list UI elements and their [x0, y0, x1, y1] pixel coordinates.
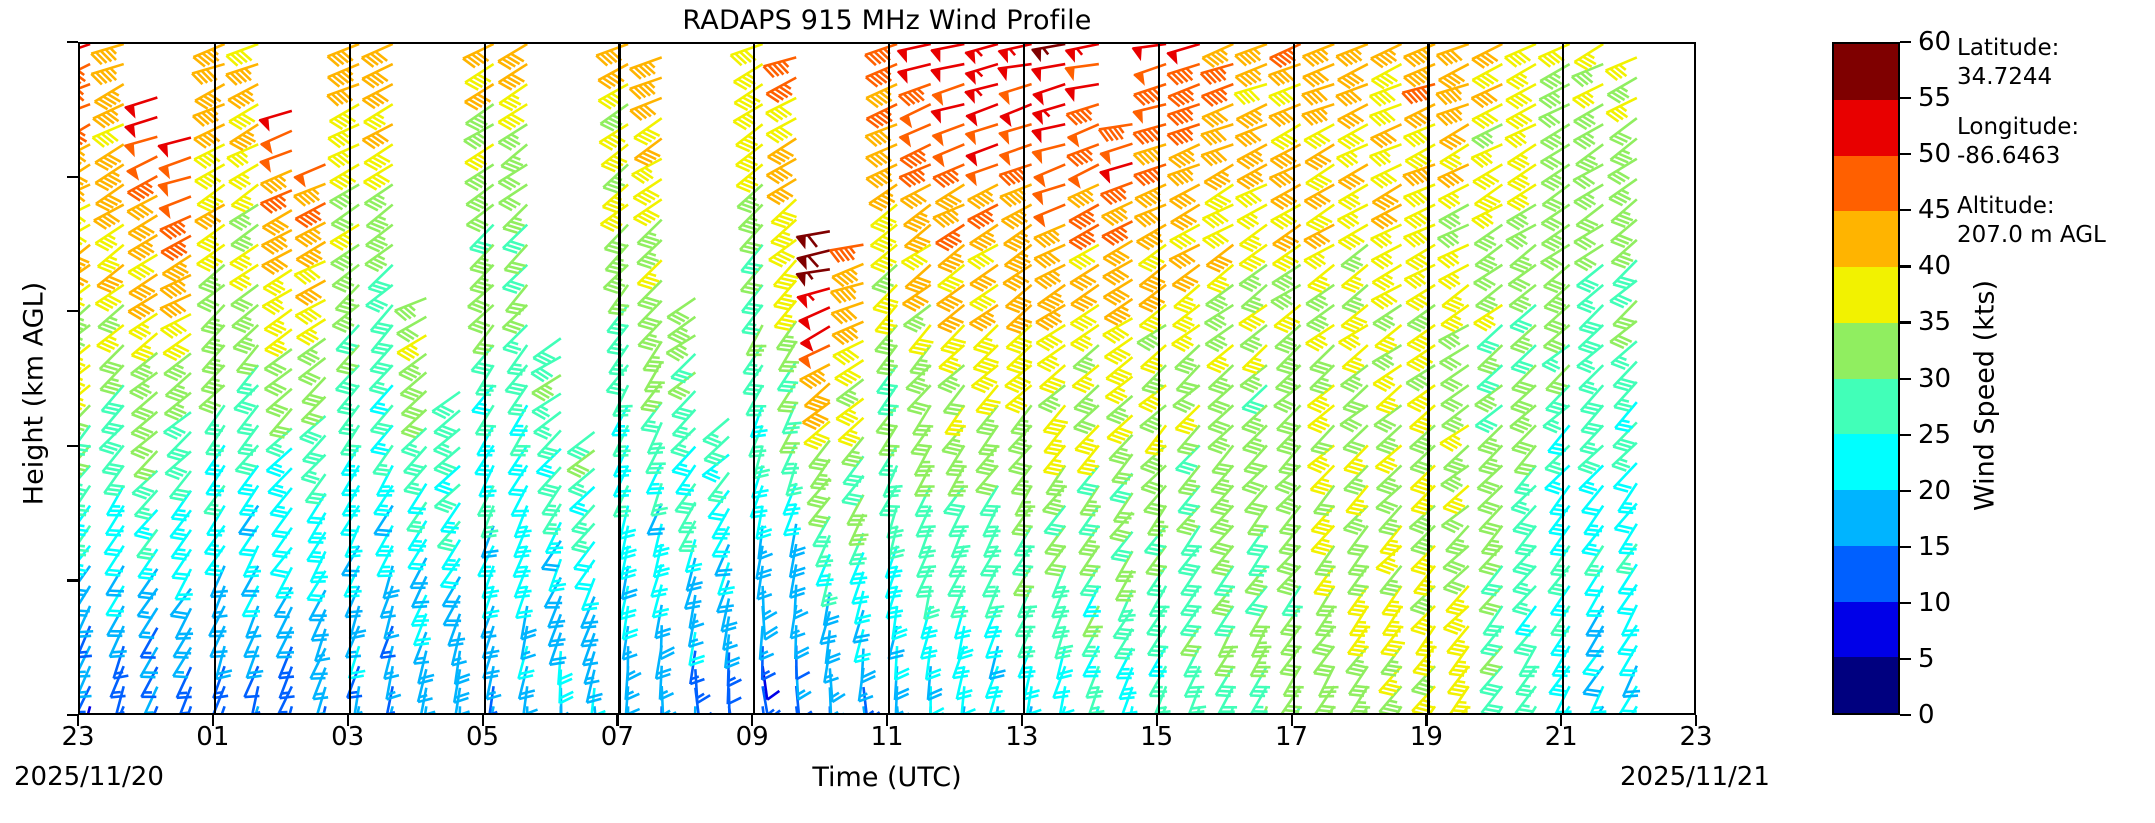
- wind-barb: [1135, 205, 1167, 227]
- hour-separator-line: [349, 44, 351, 713]
- wind-barb: [1404, 124, 1435, 146]
- wind-barb: [767, 159, 797, 184]
- wind-barb: [1336, 84, 1368, 106]
- wind-barb: [160, 295, 191, 318]
- wind-barb: [125, 137, 158, 156]
- wind-barb: [723, 616, 737, 649]
- wind-barb: [1036, 305, 1065, 330]
- wind-barb: [1403, 164, 1435, 185]
- wind-barb: [1370, 144, 1402, 166]
- colorbar-tick-label: 35: [1918, 307, 1951, 337]
- wind-barb: [1134, 164, 1166, 185]
- colorbar-tick-label: 45: [1918, 195, 1951, 225]
- wind-barb: [294, 164, 325, 186]
- x-tick-label: 03: [303, 722, 393, 752]
- colorbar-tick-mark: [1900, 546, 1911, 548]
- wind-barb: [194, 144, 224, 168]
- wind-barb: [630, 98, 662, 120]
- x-tick-label: 19: [1381, 722, 1471, 752]
- wind-barb: [259, 111, 292, 130]
- wind-barb: [1302, 104, 1334, 125]
- colorbar-gradient: [1832, 42, 1900, 715]
- wind-barb: [1440, 425, 1469, 450]
- wind-barb: [1575, 245, 1604, 271]
- wind-barb: [1406, 285, 1435, 310]
- wind-barb: [1304, 225, 1334, 249]
- wind-barb: [731, 44, 763, 65]
- wind-barb: [718, 562, 734, 594]
- wind-barb: [1169, 144, 1200, 167]
- x-tick-label: 05: [438, 722, 528, 752]
- wind-barb: [1033, 184, 1065, 204]
- hour-separator-line: [1023, 44, 1025, 713]
- wind-barb: [1574, 124, 1604, 149]
- wind-barb: [1472, 124, 1502, 148]
- wind-barb: [966, 164, 998, 185]
- longitude-block: Longitude: -86.6463: [1957, 113, 2155, 171]
- wind-barb: [1440, 345, 1469, 370]
- wind-barb: [931, 64, 964, 81]
- colorbar-band: [1834, 44, 1898, 100]
- y-axis-label: Height (km AGL): [19, 54, 50, 734]
- y-tick-mark: [67, 579, 78, 581]
- colorbar: 051015202530354045505560: [1832, 42, 1900, 715]
- hour-separator-line: [753, 44, 755, 713]
- wind-barb: [229, 164, 258, 189]
- wind-barb: [1304, 245, 1334, 269]
- wind-barb: [96, 285, 124, 311]
- wind-barb: [160, 275, 191, 298]
- wind-barb: [1069, 225, 1098, 250]
- wind-barb: [1270, 144, 1300, 168]
- colorbar-band: [1834, 379, 1898, 435]
- colorbar-tick-mark: [1900, 97, 1911, 99]
- wind-barb: [192, 64, 225, 84]
- hour-separator-line: [888, 44, 890, 713]
- wind-barb: [816, 535, 833, 566]
- wind-barb: [1032, 64, 1065, 81]
- x-tick-label: 13: [977, 722, 1067, 752]
- wind-barb: [1473, 164, 1502, 189]
- wind-barb: [733, 104, 762, 129]
- wind-barb: [901, 184, 931, 208]
- wind-barb: [662, 686, 676, 713]
- wind-barb: [1371, 225, 1402, 248]
- wind-barb: [1472, 64, 1502, 88]
- colorbar-tick-mark: [1900, 714, 1911, 716]
- wind-barb: [936, 225, 965, 251]
- wind-barb: [1201, 64, 1234, 84]
- x-axis-label: Time (UTC): [78, 762, 1696, 793]
- wind-barb: [849, 514, 868, 545]
- wind-barb: [1436, 84, 1468, 104]
- wind-barb: [1237, 144, 1267, 168]
- wind-barb: [596, 44, 628, 66]
- wind-barb: [80, 84, 90, 106]
- wind-barb: [796, 231, 829, 248]
- wind-barb: [1303, 64, 1334, 86]
- wind-barb: [533, 338, 561, 364]
- wind-barb: [1437, 44, 1469, 65]
- wind-barb: [970, 305, 998, 331]
- wind-barb: [931, 44, 964, 61]
- wind-barb: [796, 269, 830, 285]
- wind-barb: [80, 104, 90, 125]
- wind-barb: [634, 199, 662, 225]
- wind-barb: [1102, 221, 1132, 245]
- wind-barb: [933, 124, 965, 145]
- wind-barb: [364, 164, 393, 189]
- wind-barb: [1506, 225, 1536, 249]
- hour-separator-line: [1427, 44, 1429, 713]
- wind-barb: [1574, 225, 1603, 250]
- wind-barb: [441, 558, 460, 588]
- wind-barb: [1167, 64, 1199, 85]
- wind-barb: [1373, 365, 1401, 391]
- wind-barb: [161, 236, 191, 260]
- wind-barb: [1271, 285, 1301, 310]
- hour-separator-line: [618, 44, 620, 713]
- wind-barb: [1068, 184, 1099, 207]
- wind-barb: [95, 225, 123, 251]
- wind-barb: [1035, 265, 1065, 289]
- wind-barb: [1439, 184, 1469, 208]
- hour-separator-line: [214, 44, 216, 713]
- colorbar-tick-label: 15: [1918, 532, 1951, 562]
- wind-barb: [966, 124, 998, 144]
- wind-barb: [1472, 44, 1502, 68]
- wind-barb: [1306, 325, 1334, 351]
- wind-barb: [1034, 245, 1065, 268]
- wind-barb: [316, 687, 331, 713]
- wind-barb: [295, 300, 325, 324]
- colorbar-tick-mark: [1900, 658, 1911, 660]
- wind-barb: [717, 580, 734, 612]
- wind-barb: [632, 159, 662, 183]
- wind-barb: [1271, 184, 1301, 209]
- wind-barb: [1608, 159, 1637, 184]
- wind-barb: [900, 124, 931, 146]
- wind-barb: [1404, 44, 1435, 66]
- colorbar-tick-label: 50: [1918, 139, 1951, 169]
- wind-barb: [800, 364, 830, 388]
- wind-barb: [1505, 44, 1536, 67]
- wind-barb: [999, 124, 1032, 143]
- wind-barb: [1404, 225, 1435, 247]
- wind-barb: [1032, 44, 1065, 61]
- x-tick-label: 07: [572, 722, 662, 752]
- wind-barb: [581, 597, 598, 628]
- x-tick-label: 11: [842, 722, 932, 752]
- colorbar-tick-label: 5: [1918, 644, 1935, 674]
- wind-barb: [1132, 44, 1166, 60]
- wind-barb: [1573, 84, 1603, 108]
- colorbar-tick-mark: [1900, 209, 1911, 211]
- wind-barb: [1168, 84, 1199, 106]
- colorbar-tick-mark: [1900, 434, 1911, 436]
- colorbar-tick-mark: [1900, 153, 1911, 155]
- wind-barb: [463, 44, 494, 67]
- wind-barb: [1371, 285, 1401, 309]
- wind-barb: [899, 84, 931, 105]
- wind-barb: [902, 245, 931, 270]
- wind-barb: [686, 539, 702, 571]
- wind-barb: [194, 124, 225, 147]
- wind-barb: [261, 131, 292, 153]
- hour-separator-line: [1562, 44, 1564, 713]
- wind-barb: [1439, 325, 1469, 349]
- wind-barb: [865, 124, 897, 146]
- wind-barb: [1168, 104, 1200, 125]
- wind-barb: [1337, 144, 1368, 167]
- wind-barb: [729, 706, 746, 713]
- wind-barb: [965, 44, 998, 63]
- wind-barb: [695, 669, 710, 703]
- wind-barb: [1474, 305, 1502, 331]
- wind-barb: [764, 57, 797, 77]
- wind-barb: [766, 118, 796, 142]
- wind-barb-field: [80, 44, 1694, 713]
- wind-barb: [966, 104, 998, 125]
- colorbar-tick-mark: [1900, 41, 1911, 43]
- wind-barb: [822, 573, 838, 606]
- wind-barb: [866, 164, 897, 187]
- wind-barb: [999, 44, 1032, 62]
- wind-barb: [598, 84, 628, 109]
- wind-barb: [362, 44, 393, 67]
- wind-barb: [262, 290, 291, 315]
- wind-barb: [1034, 164, 1065, 186]
- wind-barb: [1033, 84, 1065, 104]
- wind-barb: [1203, 205, 1234, 228]
- wind-barb: [933, 144, 964, 166]
- wind-barb: [1202, 84, 1234, 106]
- wind-barb: [1270, 44, 1301, 67]
- y-tick-mark: [67, 445, 78, 447]
- x-tick-label: 15: [1112, 722, 1202, 752]
- colorbar-tick-label: 55: [1918, 83, 1951, 113]
- wind-barb: [93, 104, 124, 127]
- wind-barb: [1137, 225, 1166, 250]
- wind-barb: [799, 345, 830, 368]
- wind-barb: [933, 164, 964, 187]
- colorbar-band: [1834, 434, 1898, 490]
- colorbar-tick-mark: [1900, 265, 1911, 267]
- wind-barb: [1269, 64, 1301, 85]
- date-label-end: 2025/11/21: [1620, 762, 1770, 792]
- wind-barb: [1168, 164, 1200, 185]
- colorbar-tick-label: 10: [1918, 588, 1951, 618]
- wind-barb: [900, 104, 930, 127]
- wind-barb: [307, 532, 325, 562]
- longitude-label: Longitude:: [1957, 113, 2155, 142]
- wind-barb: [1237, 104, 1267, 128]
- longitude-value: -86.6463: [1957, 142, 2155, 171]
- wind-barb: [1371, 164, 1402, 187]
- colorbar-tick-mark: [1900, 490, 1911, 492]
- wind-barb: [830, 245, 863, 262]
- wind-barb: [1472, 205, 1502, 229]
- wind-barb: [1067, 144, 1099, 166]
- y-tick-mark: [67, 41, 78, 43]
- wind-barb: [261, 170, 292, 193]
- wind-barb: [395, 298, 427, 320]
- wind-barb: [932, 84, 964, 105]
- wind-barb: [330, 184, 359, 209]
- wind-barb: [328, 124, 359, 147]
- wind-barb: [1100, 163, 1133, 182]
- wind-barb: [1002, 205, 1032, 229]
- wind-barb: [1372, 345, 1401, 370]
- wind-barb: [195, 164, 225, 189]
- wind-barb: [171, 589, 191, 618]
- wind-barb: [363, 124, 393, 148]
- colorbar-band: [1834, 546, 1898, 602]
- wind-barb: [766, 78, 796, 102]
- wind-barb: [1402, 84, 1435, 104]
- wind-barb: [1472, 104, 1502, 128]
- colorbar-tick-label: 25: [1918, 420, 1951, 450]
- wind-barb: [830, 668, 845, 702]
- wind-barb: [1439, 265, 1469, 289]
- wind-barb: [1539, 104, 1570, 127]
- wind-barb: [1371, 124, 1402, 147]
- station-metadata: Latitude: 34.7244 Longitude: -86.6463 Al…: [1957, 34, 2155, 271]
- wind-barb: [226, 44, 258, 66]
- wind-barb: [418, 651, 434, 684]
- wind-barb: [1271, 205, 1301, 229]
- wind-barb: [766, 98, 796, 122]
- wind-barb: [805, 383, 830, 411]
- colorbar-band: [1834, 211, 1898, 267]
- wind-barb: [582, 578, 599, 610]
- wind-barb: [1069, 164, 1099, 187]
- wind-barb: [1302, 84, 1334, 105]
- wind-barb: [489, 686, 503, 713]
- colorbar-tick-label: 40: [1918, 251, 1951, 281]
- wind-barb: [998, 64, 1032, 80]
- wind-barb: [307, 571, 325, 601]
- x-tick-label: 23: [1651, 722, 1741, 752]
- plot-area: [78, 42, 1696, 715]
- wind-barb: [799, 307, 830, 329]
- hour-separator-line: [1293, 44, 1295, 713]
- wind-barb: [523, 686, 538, 713]
- wind-barb: [966, 64, 998, 84]
- wind-barb: [599, 124, 628, 149]
- y-tick-mark: [67, 176, 78, 178]
- wind-barb: [312, 610, 329, 641]
- wind-barb: [1188, 686, 1206, 713]
- wind-barb: [1305, 184, 1335, 208]
- wind-barb: [193, 44, 224, 67]
- wind-barb: [968, 245, 998, 269]
- colorbar-band: [1834, 490, 1898, 546]
- wind-barb: [499, 184, 527, 210]
- wind-profile-figure: RADAPS 915 MHz Wind Profile Height (km A…: [0, 0, 2155, 823]
- wind-barb: [1114, 609, 1134, 639]
- wind-barb: [464, 124, 494, 148]
- wind-barb: [1270, 164, 1301, 187]
- wind-barb: [1404, 64, 1435, 87]
- wind-barb: [1059, 686, 1074, 713]
- wind-barb: [195, 205, 225, 230]
- wind-barb: [1438, 164, 1469, 187]
- latitude-value: 34.7244: [1957, 63, 2155, 92]
- wind-barb: [158, 177, 191, 196]
- wind-barb: [91, 64, 123, 84]
- wind-barb: [1003, 265, 1031, 291]
- wind-barb: [1235, 44, 1267, 66]
- wind-barb: [1541, 245, 1570, 270]
- wind-barb: [630, 78, 662, 99]
- wind-barb: [796, 666, 811, 700]
- wind-barb: [209, 606, 226, 636]
- wind-barb: [1069, 245, 1099, 270]
- wind-barb: [762, 646, 775, 680]
- wind-barb: [1572, 64, 1603, 86]
- wind-barb: [363, 84, 393, 108]
- wind-barb: [1066, 44, 1099, 61]
- wind-barb: [262, 250, 292, 274]
- wind-barb: [1404, 184, 1435, 206]
- colorbar-tick-label: 0: [1918, 700, 1935, 730]
- colorbar-tick-label: 30: [1918, 364, 1951, 394]
- wind-barb: [1100, 144, 1132, 164]
- wind-barb: [1404, 265, 1435, 288]
- colorbar-tick-mark: [1900, 321, 1911, 323]
- wind-barb: [722, 598, 737, 631]
- wind-barb: [866, 84, 897, 107]
- wind-barb: [1336, 44, 1368, 66]
- wind-barb: [866, 104, 897, 127]
- wind-barb: [1172, 325, 1200, 351]
- wind-barb: [1234, 84, 1267, 104]
- wind-barb: [1505, 124, 1536, 147]
- wind-barb: [933, 205, 964, 228]
- wind-barb: [1000, 144, 1032, 164]
- wind-barb: [832, 322, 863, 345]
- date-label-start: 2025/11/20: [14, 762, 164, 792]
- colorbar-band: [1834, 100, 1898, 156]
- wind-barb: [767, 179, 796, 204]
- wind-barb: [831, 283, 864, 303]
- wind-barb: [598, 64, 628, 88]
- wind-barb: [898, 64, 931, 82]
- wind-barb: [328, 44, 360, 66]
- wind-barb: [1506, 84, 1536, 108]
- wind-barb: [1438, 225, 1469, 248]
- wind-barb: [1371, 205, 1401, 229]
- wind-barb: [1437, 104, 1469, 125]
- wind-barb: [542, 541, 561, 571]
- wind-barb: [158, 138, 191, 157]
- latitude-block: Latitude: 34.7244: [1957, 34, 2155, 92]
- wind-barb: [1606, 98, 1636, 122]
- wind-barb: [328, 144, 359, 167]
- wind-barb: [160, 216, 191, 239]
- wind-barb: [1303, 44, 1335, 66]
- wind-barb: [1371, 44, 1402, 67]
- wind-barb: [1065, 84, 1098, 100]
- hour-separator-line: [484, 44, 486, 713]
- wind-barb: [797, 250, 830, 268]
- wind-barb: [1167, 124, 1199, 145]
- wind-barb: [1033, 104, 1066, 123]
- wind-barb: [354, 686, 368, 713]
- wind-barb: [833, 341, 863, 365]
- wind-barb: [1371, 245, 1401, 269]
